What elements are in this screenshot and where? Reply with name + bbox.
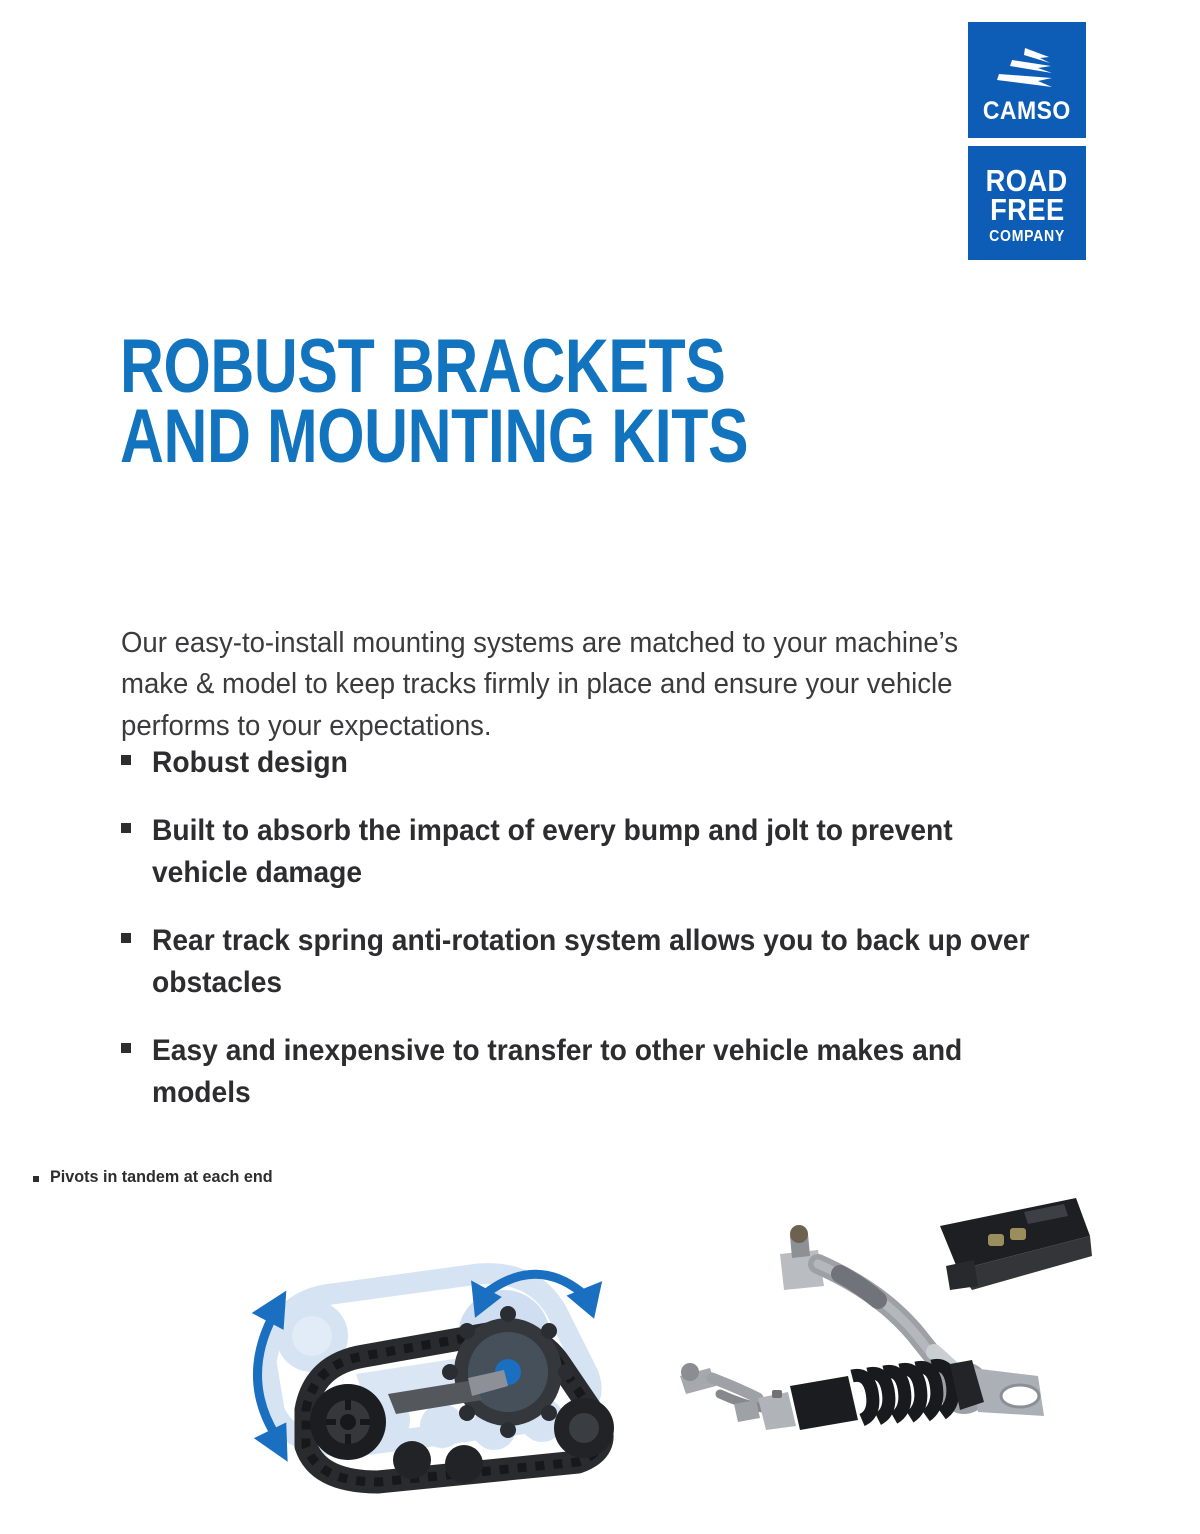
page-title-line-2: AND MOUNTING KITS	[120, 402, 748, 472]
feature-list: Robust design Built to absorb the impact…	[121, 742, 1101, 1140]
feature-text: Robust design	[152, 742, 348, 784]
camso-chevron-mark	[994, 46, 1060, 92]
logo-stack: CAMSO ROAD FREE COMPANY	[968, 22, 1086, 260]
feature-text: Rear track spring anti-rotation system a…	[152, 920, 1044, 1004]
figure-caption: Pivots in tandem at each end	[33, 1167, 284, 1187]
bracket-rail	[940, 1198, 1092, 1290]
road-free-line-2: FREE	[990, 195, 1065, 224]
track-diagram-svg	[236, 1214, 656, 1504]
square-bullet-icon	[121, 1043, 131, 1053]
road-free-logo: ROAD FREE COMPANY	[968, 146, 1086, 260]
camso-logo: CAMSO	[968, 22, 1086, 138]
page-title: ROBUST BRACKETS AND MOUNTING KITS	[120, 332, 748, 472]
pivot-arrow-top-head-right	[566, 1270, 615, 1319]
feature-text: Easy and inexpensive to transfer to othe…	[152, 1030, 1044, 1114]
brochure-page: CAMSO ROAD FREE COMPANY ROBUST BRACKETS …	[0, 0, 1200, 1534]
mounting-hardware-photo	[672, 1190, 1092, 1440]
road-free-line-1: ROAD	[986, 166, 1068, 195]
square-bullet-icon	[121, 823, 131, 833]
camso-wordmark: CAMSO	[983, 99, 1071, 124]
spring-coils	[852, 1365, 953, 1420]
square-bullet-icon	[121, 755, 131, 765]
figure-caption-text: Pivots in tandem at each end	[50, 1167, 273, 1187]
square-bullet-icon	[33, 1176, 39, 1182]
page-title-line-1: ROBUST BRACKETS	[120, 332, 748, 402]
list-item: Easy and inexpensive to transfer to othe…	[121, 1030, 1101, 1114]
feature-text: Built to absorb the impact of every bump…	[152, 810, 1044, 894]
list-item: Built to absorb the impact of every bump…	[121, 810, 1101, 894]
spring-assembly	[680, 1360, 984, 1430]
list-item: Robust design	[121, 742, 1101, 784]
list-item: Rear track spring anti-rotation system a…	[121, 920, 1101, 1004]
hardware-svg	[672, 1190, 1092, 1440]
intro-paragraph: Our easy-to-install mounting systems are…	[121, 623, 1033, 747]
road-free-line-3: COMPANY	[989, 229, 1065, 244]
square-bullet-icon	[121, 933, 131, 943]
rubber-track-pivot-diagram	[236, 1214, 656, 1504]
